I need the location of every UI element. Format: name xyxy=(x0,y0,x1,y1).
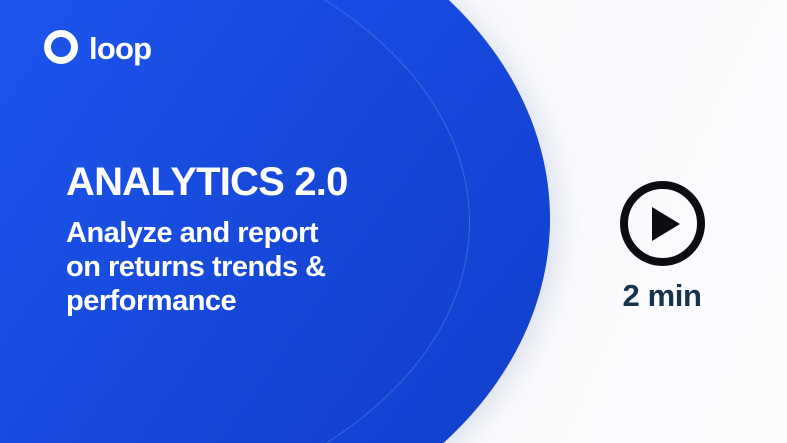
hero-copy: ANALYTICS 2.0 Analyze and report on retu… xyxy=(66,162,426,319)
play-button[interactable] xyxy=(620,181,705,266)
loop-ring-icon xyxy=(44,30,78,64)
hero-subtitle-line: Analyze and report xyxy=(66,216,426,250)
brand-wordmark: loop xyxy=(89,33,151,64)
page-title: ANALYTICS 2.0 xyxy=(66,162,426,202)
play-triangle-icon xyxy=(652,207,680,241)
hero-subtitle-line: on returns trends & xyxy=(66,250,426,284)
video-duration-label: 2 min xyxy=(623,280,702,311)
video-player-control: 2 min xyxy=(602,181,722,311)
hero-subtitle-line: performance xyxy=(66,284,426,318)
video-promo-card: loop ANALYTICS 2.0 Analyze and report on… xyxy=(0,0,787,443)
brand-logo[interactable]: loop xyxy=(44,30,151,64)
hero-subtitle: Analyze and report on returns trends & p… xyxy=(66,216,426,319)
